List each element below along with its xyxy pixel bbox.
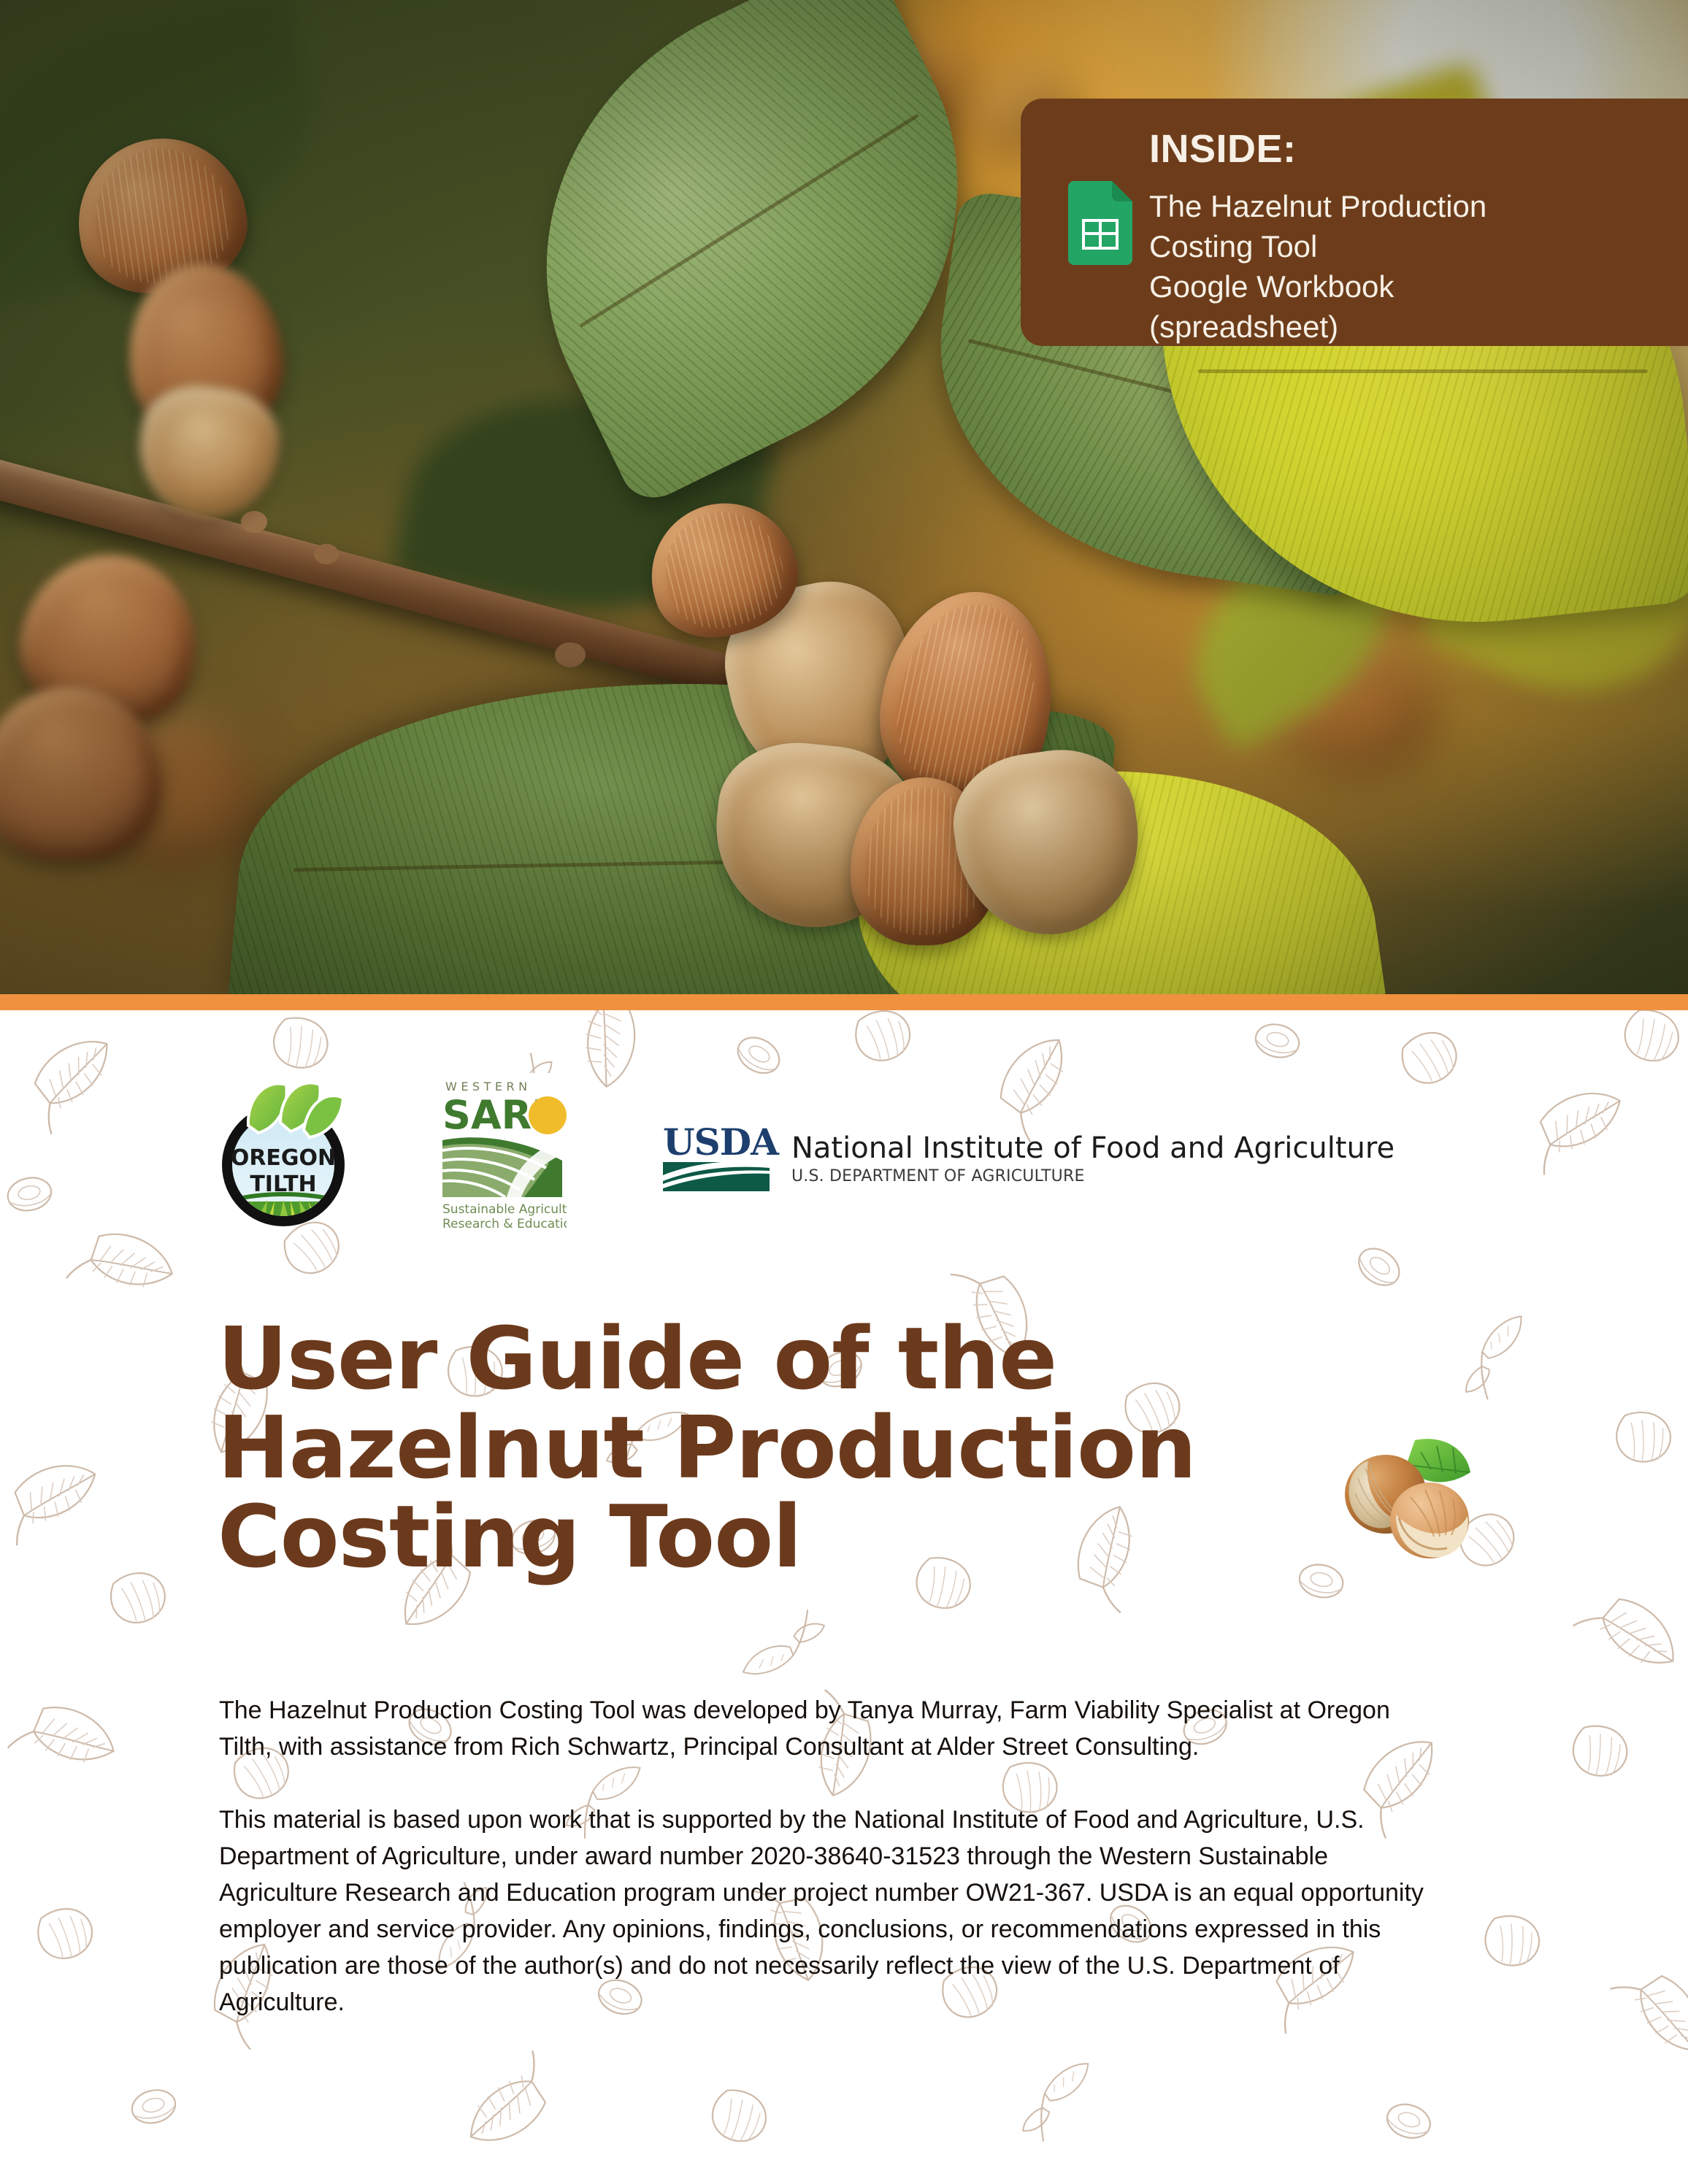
body-copy: The Hazelnut Production Costing Tool was… bbox=[219, 1692, 1446, 2020]
page-title-line: User Guide of the bbox=[218, 1314, 1357, 1403]
funding-disclaimer-paragraph: This material is based upon work that is… bbox=[219, 1802, 1446, 2020]
oregon-tilth-logo: OREGON TILTH bbox=[210, 1063, 356, 1231]
hazelnut-illustration bbox=[1329, 1427, 1475, 1566]
inside-heading: INSIDE: bbox=[1149, 126, 1297, 172]
cover-page: INSIDE: The Hazelnut Production Costing … bbox=[0, 0, 1688, 2184]
inside-description: The Hazelnut Production Costing Tool Goo… bbox=[1149, 186, 1486, 347]
inside-callout-box: INSIDE: The Hazelnut Production Costing … bbox=[1021, 99, 1688, 346]
oregon-tilth-word-2: TILTH bbox=[250, 1172, 316, 1197]
page-title: User Guide of the Hazelnut Production Co… bbox=[218, 1314, 1357, 1581]
usda-agency-name: National Institute of Food and Agricultu… bbox=[791, 1131, 1394, 1165]
orange-divider-bar bbox=[0, 994, 1688, 1010]
inside-line: Google Workbook bbox=[1149, 266, 1486, 307]
inside-line: Costing Tool bbox=[1149, 226, 1486, 266]
google-sheets-icon bbox=[1068, 181, 1132, 265]
inside-line: The Hazelnut Production bbox=[1149, 186, 1486, 226]
hero-photo: INSIDE: The Hazelnut Production Costing … bbox=[0, 0, 1688, 994]
oregon-tilth-word-1: OREGON bbox=[231, 1145, 336, 1171]
page-title-line: Costing Tool bbox=[218, 1492, 1357, 1581]
usda-mark: USDA bbox=[663, 1124, 780, 1164]
page-title-line: Hazelnut Production bbox=[218, 1403, 1357, 1492]
usda-nifa-logo: USDA National Institute of Food and Agri… bbox=[663, 1124, 1400, 1191]
credits-paragraph: The Hazelnut Production Costing Tool was… bbox=[219, 1692, 1446, 1765]
usda-department-name: U.S. DEPARTMENT OF AGRICULTURE bbox=[791, 1167, 1085, 1185]
inside-line: (spreadsheet) bbox=[1149, 307, 1486, 347]
sare-tagline-line-2: Research & Education bbox=[442, 1217, 567, 1231]
western-sare-logo: WESTERN SARE Sustainable Agriculture Res… bbox=[437, 1073, 567, 1232]
sare-tagline-line-1: Sustainable Agriculture bbox=[442, 1202, 567, 1217]
